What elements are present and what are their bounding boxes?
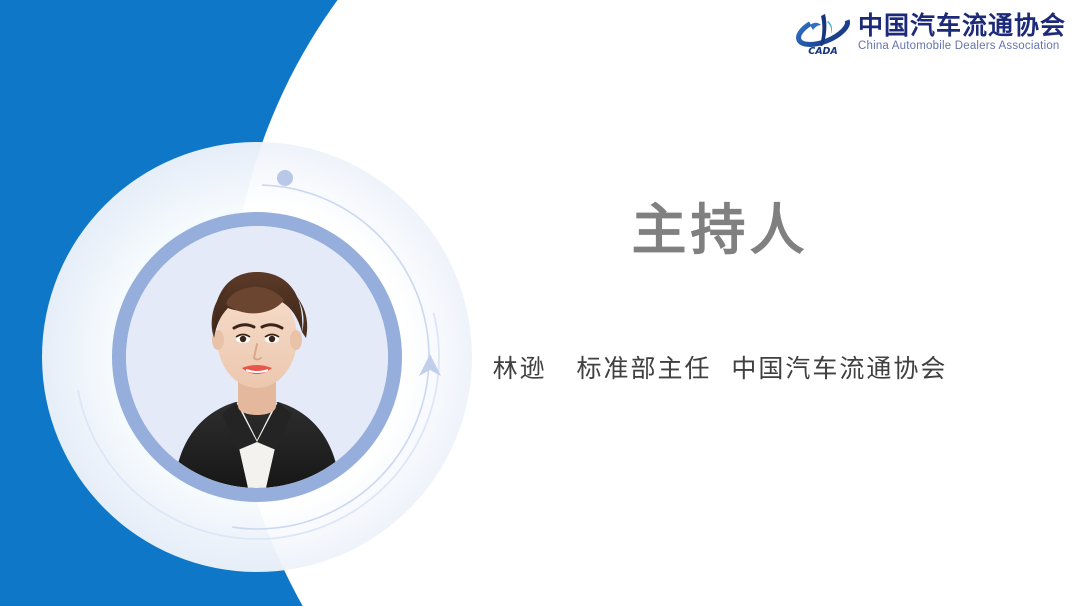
avatar: [126, 226, 388, 488]
logo-name-cn: 中国汽车流通协会: [858, 13, 1066, 40]
slide-text-block: 主持人 林逊 标准部主任 中国汽车流通协会: [440, 200, 1000, 385]
logo-text: 中国汽车流通协会 China Automobile Dealers Associ…: [858, 13, 1066, 55]
cada-swoosh-logo-icon: CADA: [792, 11, 854, 57]
page-title: 主持人: [440, 200, 1000, 261]
portrait-frame: [126, 226, 388, 488]
arc-dot-icon: [277, 170, 293, 186]
speaker-credentials: 林逊 标准部主任 中国汽车流通协会: [440, 349, 1000, 385]
speaker-portrait: [112, 212, 402, 502]
cada-logo: CADA 中国汽车流通协会 China Automobile Dealers A…: [792, 10, 1066, 58]
cada-wordmark: CADA: [808, 46, 838, 57]
logo-name-en: China Automobile Dealers Association: [858, 39, 1066, 55]
presentation-slide: 主持人 林逊 标准部主任 中国汽车流通协会 CADA 中国汽车流通协会: [0, 0, 1080, 606]
